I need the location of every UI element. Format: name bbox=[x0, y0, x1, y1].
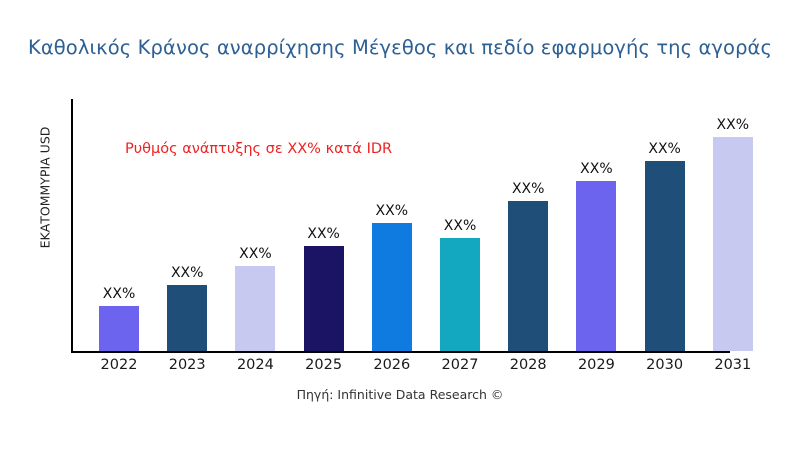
bar-value-label-2030: XX% bbox=[648, 141, 680, 157]
bar-rect-2026 bbox=[372, 223, 412, 351]
bar-2024: XX% bbox=[235, 266, 275, 351]
bar-2029: XX% bbox=[576, 181, 616, 351]
x-tick-2031: 2031 bbox=[703, 357, 763, 373]
bar-2027: XX% bbox=[440, 238, 480, 351]
bar-2030: XX% bbox=[645, 161, 685, 351]
x-tick-2030: 2030 bbox=[635, 357, 695, 373]
source-note: Πηγή: Infinitive Data Research © bbox=[0, 387, 800, 402]
x-tick-2028: 2028 bbox=[498, 357, 558, 373]
market-size-bar-chart: Καθολικός Κράνος αναρρίχησης Μέγεθος και… bbox=[0, 0, 800, 450]
bar-value-label-2027: XX% bbox=[444, 218, 476, 234]
bar-value-label-2023: XX% bbox=[171, 265, 203, 281]
x-tick-2025: 2025 bbox=[294, 357, 354, 373]
bar-rect-2027 bbox=[440, 238, 480, 351]
x-tick-2024: 2024 bbox=[225, 357, 285, 373]
x-tick-2027: 2027 bbox=[430, 357, 490, 373]
bar-2031: XX% bbox=[713, 137, 753, 351]
x-tick-2023: 2023 bbox=[157, 357, 217, 373]
bar-rect-2030 bbox=[645, 161, 685, 351]
bar-rect-2025 bbox=[304, 246, 344, 351]
plot-area: XX%2022XX%2023XX%2024XX%2025XX%2026XX%20… bbox=[0, 0, 800, 450]
bar-rect-2024 bbox=[235, 266, 275, 351]
bar-rect-2023 bbox=[167, 285, 207, 351]
bar-2025: XX% bbox=[304, 246, 344, 351]
bar-rect-2029 bbox=[576, 181, 616, 351]
bar-value-label-2031: XX% bbox=[717, 117, 749, 133]
x-tick-2029: 2029 bbox=[566, 357, 626, 373]
bar-2028: XX% bbox=[508, 201, 548, 351]
bar-2026: XX% bbox=[372, 223, 412, 351]
bar-2023: XX% bbox=[167, 285, 207, 351]
x-tick-2022: 2022 bbox=[89, 357, 149, 373]
x-tick-2026: 2026 bbox=[362, 357, 422, 373]
bar-rect-2031 bbox=[713, 137, 753, 351]
bar-rect-2022 bbox=[99, 306, 139, 351]
bar-2022: XX% bbox=[99, 306, 139, 351]
bar-value-label-2028: XX% bbox=[512, 181, 544, 197]
bar-rect-2028 bbox=[508, 201, 548, 351]
bar-value-label-2024: XX% bbox=[239, 246, 271, 262]
bar-value-label-2029: XX% bbox=[580, 161, 612, 177]
bar-value-label-2025: XX% bbox=[307, 226, 339, 242]
bar-value-label-2026: XX% bbox=[376, 203, 408, 219]
bar-value-label-2022: XX% bbox=[103, 286, 135, 302]
